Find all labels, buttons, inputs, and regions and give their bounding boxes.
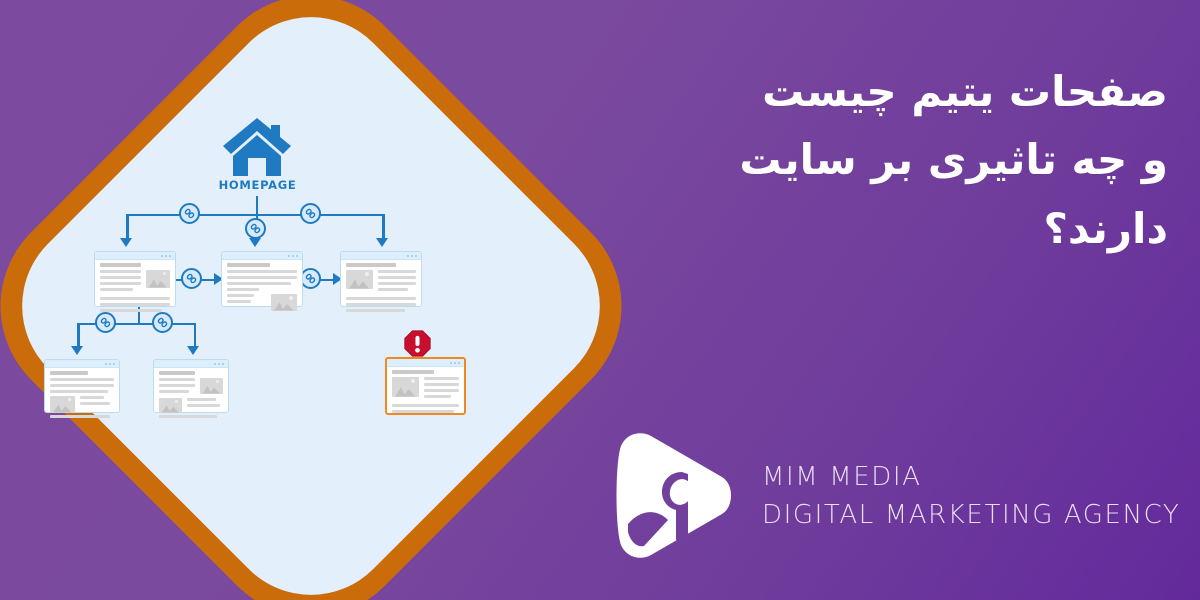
content-image-placeholder [346,270,373,289]
arrow-down-page1 [120,238,132,247]
poster-canvas: HOMEPAGE [0,0,1200,600]
mim-media-play-logo-icon [610,428,745,563]
content-image-placeholder [392,377,419,397]
content-text-block [378,270,416,294]
content-heading-line [392,370,434,374]
window-dots-icon [161,255,171,257]
connector-drop-page1 [126,214,129,241]
chain-link-icon-2[interactable] [245,218,266,239]
orphan-page-card[interactable] [385,357,466,415]
content-image-placeholder [159,398,182,413]
home-icon [221,116,293,176]
brand-text: MIM MEDIA DIGITAL MARKETING AGENCY [762,458,1180,535]
brand-name: MIM MEDIA [762,458,1180,496]
browser-title-bar [341,252,421,260]
exclamation-octagon-icon [404,330,431,357]
sitemap-page-card[interactable] [340,251,422,307]
connector-drop-page5 [194,323,197,349]
content-image-placeholder [271,294,297,311]
brand-lockup[interactable]: MIM MEDIA DIGITAL MARKETING AGENCY [600,420,1200,570]
chain-link-icon-3[interactable] [300,203,321,224]
page-content [159,371,223,407]
content-heading-line [100,263,141,267]
page-content [100,263,170,301]
sitemap-diagram: HOMEPAGE [0,0,600,600]
connector-drop-page3 [382,214,385,241]
content-image-placeholder [50,396,75,413]
window-dots-icon [407,255,417,257]
connector-page1-stub [138,305,141,323]
content-text-block [424,377,459,401]
headline-line-3: دارند؟ [628,195,1168,263]
page-title: صفحات یتیم چیست و چه تاثیری بر سایت دارن… [628,58,1168,263]
page-content [346,263,416,301]
chain-link-icon-1[interactable] [179,203,200,224]
brand-tagline: DIGITAL MARKETING AGENCY [762,496,1180,534]
content-text-block [80,396,114,413]
browser-title-bar [222,252,302,260]
arrow-down-page2 [249,238,261,247]
content-heading-line [227,263,270,267]
content-image-placeholder [200,378,223,394]
content-heading-line [346,263,396,267]
content-text-block [100,270,141,294]
page-content [50,371,114,407]
page-content [392,370,459,408]
chain-link-icon-6[interactable] [95,312,116,333]
sitemap-page-card[interactable] [221,251,303,307]
window-dots-icon [288,255,298,257]
content-text-block [159,378,195,396]
browser-title-bar [45,360,119,368]
headline-line-1: صفحات یتیم چیست [628,58,1168,126]
sitemap-page-card[interactable] [44,359,120,413]
content-heading-line [50,371,88,375]
browser-title-bar [154,360,228,368]
sitemap-page-card[interactable] [94,251,176,307]
chain-link-icon-5[interactable] [300,268,321,289]
content-image-placeholder [146,270,170,288]
connector-drop-page4 [77,323,80,349]
browser-title-bar [95,252,175,260]
sitemap-page-card[interactable] [153,359,229,413]
window-dots-icon [214,363,224,365]
arrow-down-page4 [71,346,83,355]
content-text-block [187,398,223,413]
arrow-down-page3 [376,238,388,247]
page-content [227,263,297,301]
chain-link-icon-7[interactable] [152,312,173,333]
arrow-down-page5 [187,346,199,355]
browser-title-bar [387,359,464,367]
content-text-block [227,294,266,311]
chain-link-icon-4[interactable] [181,268,202,289]
window-dots-icon [450,362,460,364]
homepage-label: HOMEPAGE [185,178,330,192]
headline-line-2: و چه تاثیری بر سایت [628,126,1168,194]
right-panel: صفحات یتیم چیست و چه تاثیری بر سایت دارن… [600,0,1200,600]
content-heading-line [159,371,195,375]
window-dots-icon [105,363,115,365]
